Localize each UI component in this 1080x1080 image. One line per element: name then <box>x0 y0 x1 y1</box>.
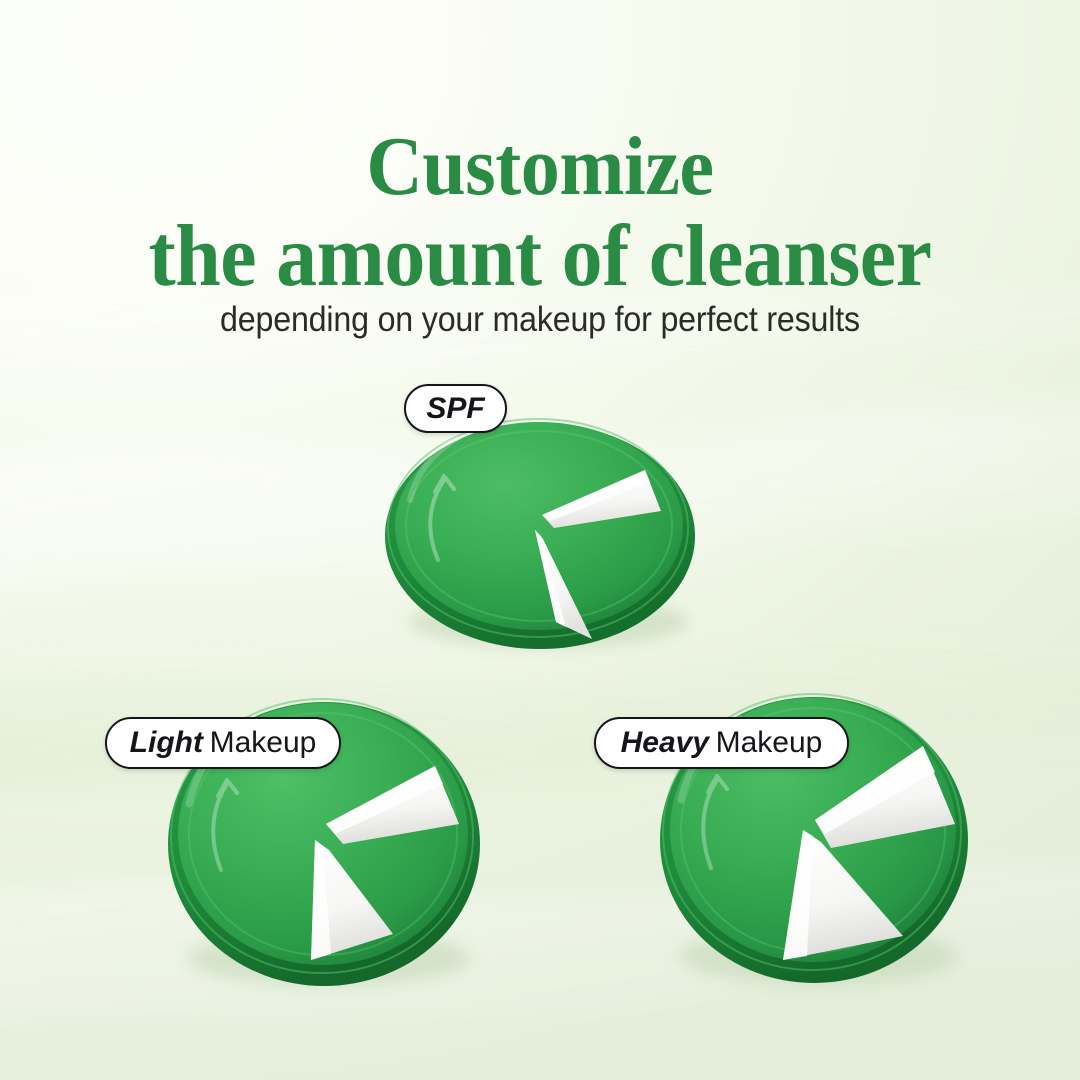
headline-line-2: the amount of cleanser <box>38 214 1042 299</box>
label-rest: Makeup <box>210 726 317 760</box>
label-pill-spf: SPF <box>404 384 507 433</box>
label-pill-light-makeup: Light Makeup <box>105 717 341 769</box>
label-rest: Makeup <box>716 726 823 760</box>
page-title: Customize the amount of cleanser <box>38 126 1042 299</box>
headline-line-1: Customize <box>38 126 1042 207</box>
label-emphasis: SPF <box>426 392 484 426</box>
label-emphasis: Heavy <box>621 726 709 760</box>
label-pill-heavy-makeup: Heavy Makeup <box>594 717 849 769</box>
product-jar-spf <box>380 408 700 653</box>
label-emphasis: Light <box>130 726 203 760</box>
infographic-canvas: Customize the amount of cleanser dependi… <box>0 0 1080 1080</box>
subheadline: depending on your makeup for perfect res… <box>43 300 1037 340</box>
